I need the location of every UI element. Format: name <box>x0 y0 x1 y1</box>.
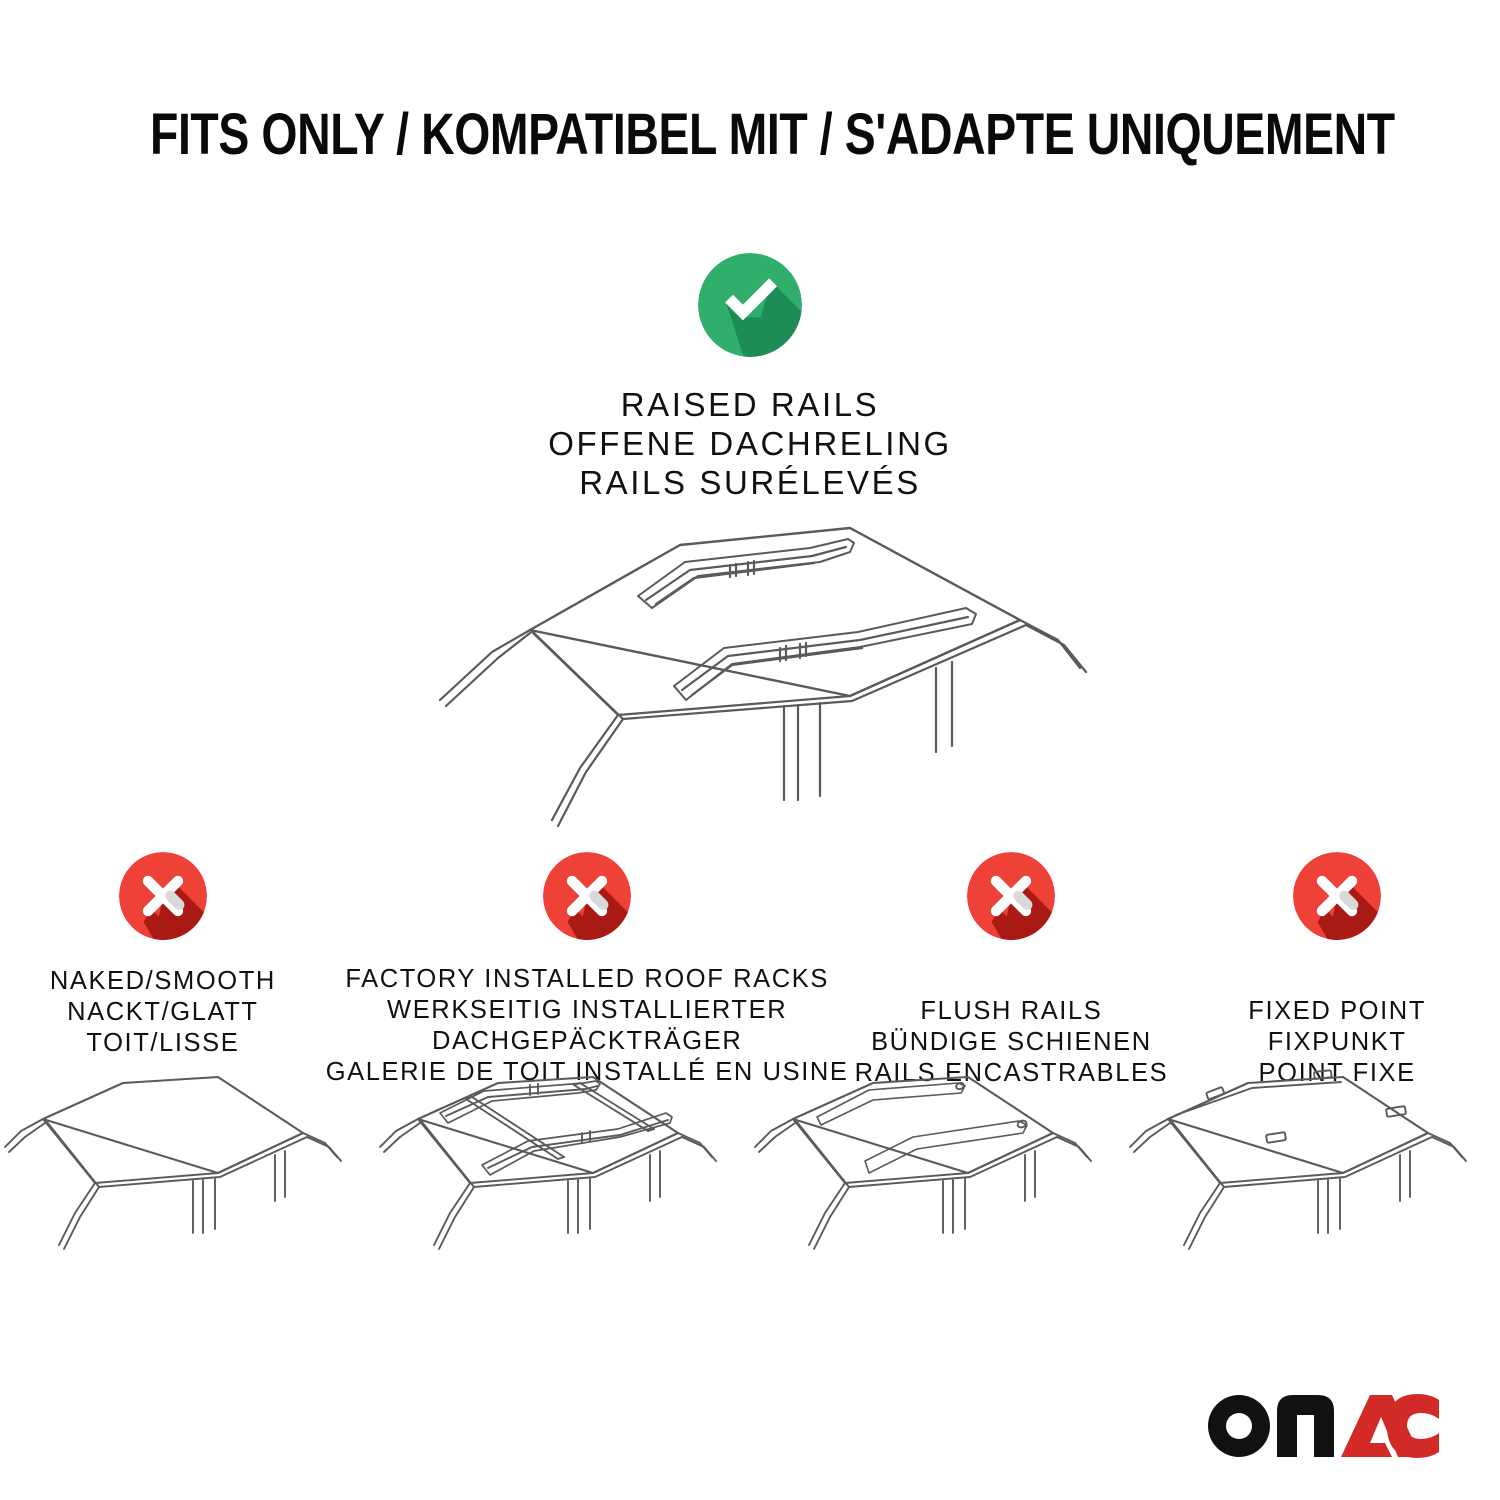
logo-letter-C <box>1387 1394 1439 1458</box>
caption-line-de-1: WERKSEITIG INSTALLIERTER <box>326 995 849 1026</box>
caption-line-de: FIXPUNKT <box>1248 1027 1426 1058</box>
compatible-caption: RAISED RAILS OFFENE DACHRELING RAILS SUR… <box>0 385 1500 502</box>
logo-letter-m <box>1277 1395 1334 1457</box>
check-circle-icon <box>698 253 802 357</box>
incompatible-grid: NAKED/SMOOTH NACKT/GLATT TOIT/LISSE <box>0 852 1500 1089</box>
cross-circle-icon <box>543 852 631 940</box>
caption-line-de: BÜNDIGE SCHIENEN <box>855 1027 1169 1058</box>
compatible-line-en: RAISED RAILS <box>0 385 1500 424</box>
incompatible-caption: NAKED/SMOOTH NACKT/GLATT TOIT/LISSE <box>50 966 276 1059</box>
cross-circle-icon <box>967 852 1055 940</box>
caption-line-en: FIXED POINT <box>1248 996 1426 1027</box>
car-roof-with-raised-rails-illustration <box>380 500 1120 830</box>
omac-logo <box>1202 1386 1442 1460</box>
page-title: FITS ONLY / KOMPATIBEL MIT / S'ADAPTE UN… <box>150 103 1350 167</box>
car-roof-naked-smooth-illustration <box>0 1055 375 1305</box>
car-roof-flush-rails-illustration <box>750 1055 1125 1305</box>
caption-line-en: FACTORY INSTALLED ROOF RACKS <box>326 964 849 995</box>
cross-circle-icon <box>119 852 207 940</box>
car-roof-factory-roof-racks-illustration <box>375 1055 750 1305</box>
caption-line-en: FLUSH RAILS <box>855 996 1169 1027</box>
caption-line-de: NACKT/GLATT <box>50 997 276 1028</box>
compatible-line-fr: RAILS SURÉLEVÉS <box>0 463 1500 502</box>
caption-line-de-2: DACHGEPÄCKTRÄGER <box>326 1026 849 1057</box>
incompatible-item-naked-smooth: NAKED/SMOOTH NACKT/GLATT TOIT/LISSE <box>0 852 326 1059</box>
cross-circle-icon <box>1293 852 1381 940</box>
car-roof-fixed-point-illustration <box>1125 1055 1500 1305</box>
incompatible-artwork-row <box>0 1055 1500 1305</box>
compatible-section: RAISED RAILS OFFENE DACHRELING RAILS SUR… <box>0 253 1500 502</box>
incompatible-item-flush-rails: FLUSH RAILS BÜNDIGE SCHIENEN RAILS ENCAS… <box>849 852 1175 1089</box>
incompatible-item-fixed-point: FIXED POINT FIXPUNKT POINT FIXE <box>1174 852 1500 1089</box>
logo-letter-o <box>1208 1395 1270 1457</box>
incompatible-item-factory-roof-racks: FACTORY INSTALLED ROOF RACKS WERKSEITIG … <box>326 852 849 1088</box>
compatible-line-de: OFFENE DACHRELING <box>0 424 1500 463</box>
caption-line-en: NAKED/SMOOTH <box>50 966 276 997</box>
